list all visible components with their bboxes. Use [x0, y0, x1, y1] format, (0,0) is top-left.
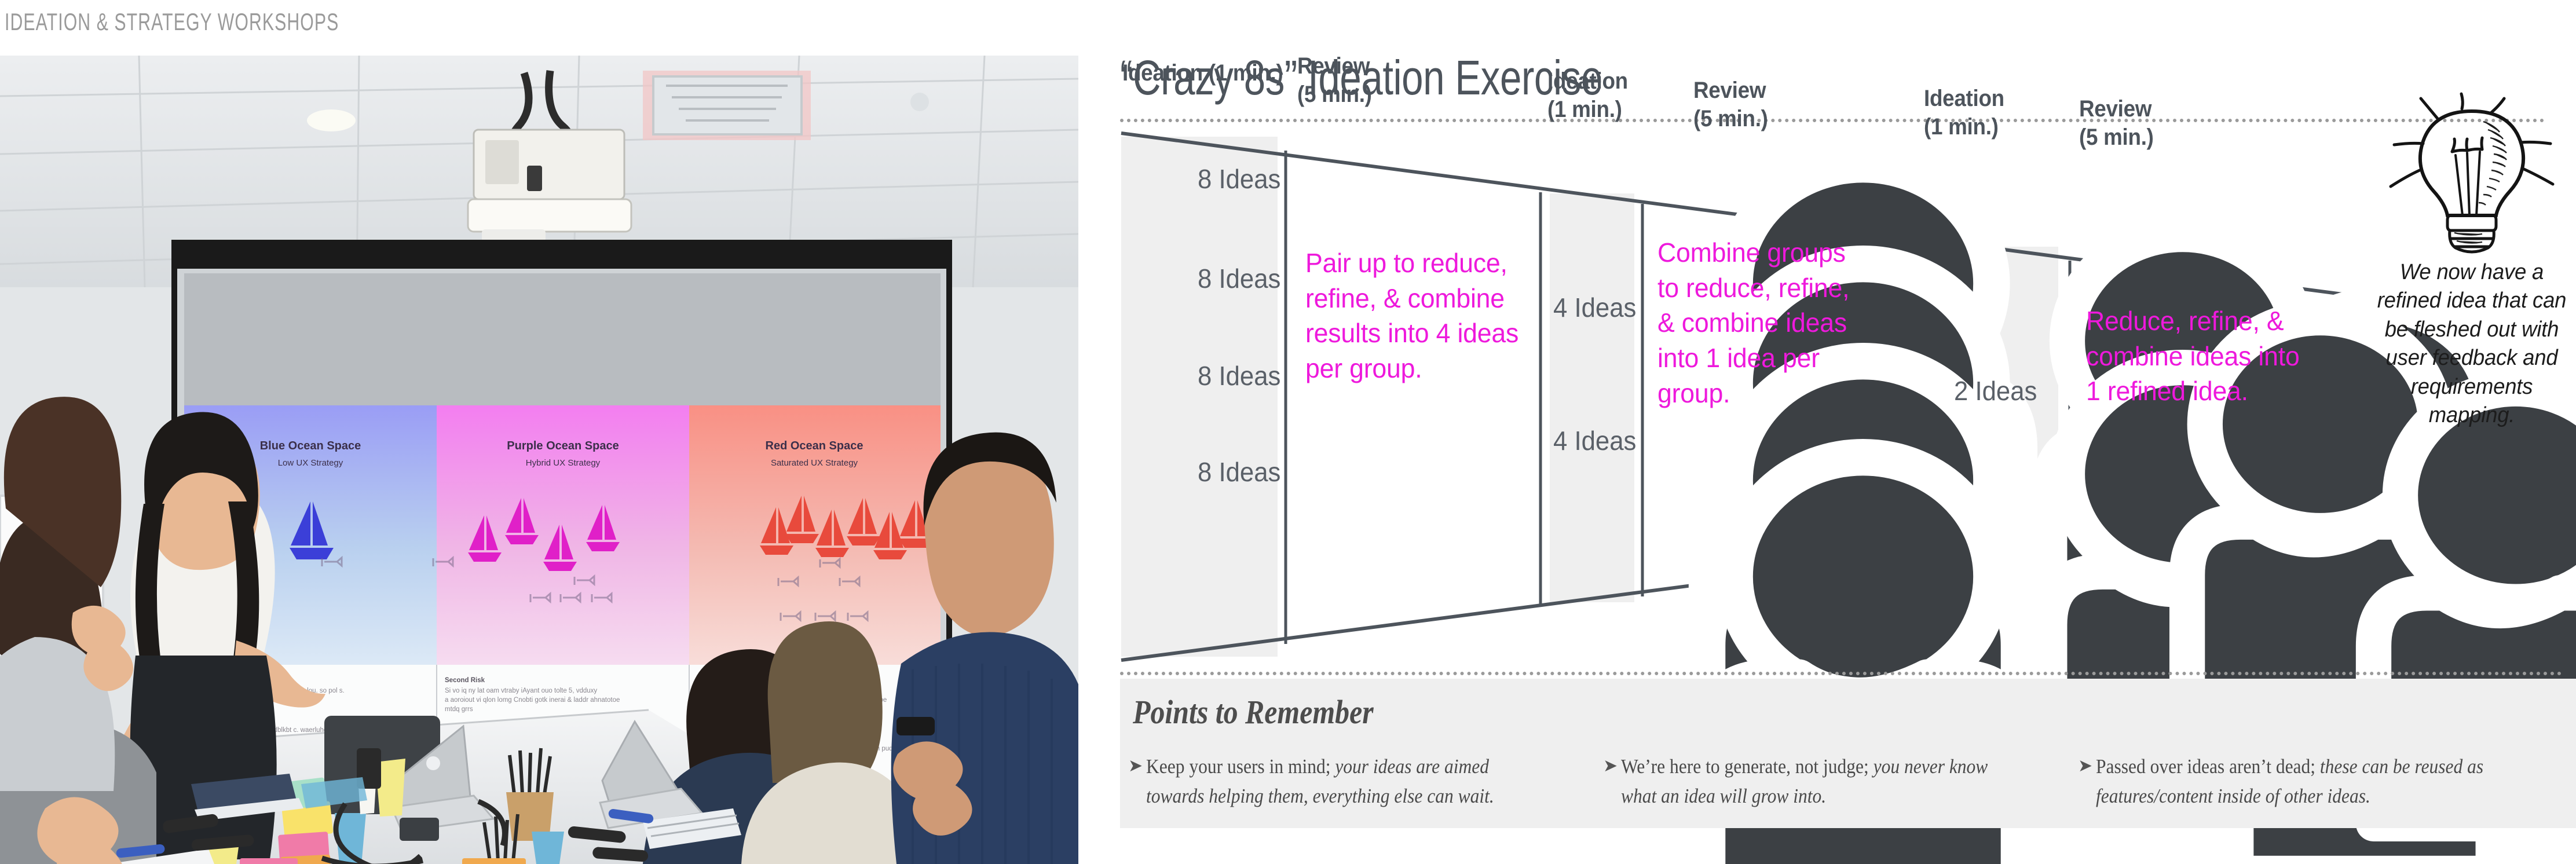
footer-bullet-list: ➤ Keep your users in mind; your ideas ar…: [1128, 752, 2570, 811]
svg-text:Hybrid UX Strategy: Hybrid UX Strategy: [526, 458, 601, 468]
stage-note-review-2: Combine groups to reduce, refine, & comb…: [1657, 235, 1872, 411]
bullet-text: Keep your users in mind; your ideas are …: [1146, 752, 1539, 811]
svg-text:Si vo iq ny lat oam vtraby iA: Si vo iq ny lat oam vtraby iAyant ouo to…: [445, 687, 597, 694]
workshop-photo: Blue Ocean Space Low UX Strategy Purple …: [0, 56, 1078, 864]
bullet-lead: Keep your users in mind;: [1146, 755, 1335, 778]
bullet-lead: Passed over ideas aren’t dead;: [2096, 755, 2320, 778]
points-to-remember-panel: Points to Remember ➤ Keep your users in …: [1120, 679, 2576, 828]
stage-header-review-3: Review (5 min.): [2079, 95, 2154, 152]
ideas-label: 4 Ideas: [1553, 425, 1636, 456]
divider-top: [1120, 119, 2545, 122]
svg-text:a aoroiout vi qlon lomg Cnobti: a aoroiout vi qlon lomg Cnobti gotk iner…: [445, 697, 620, 704]
bullet-text: We’re here to generate, not judge; you n…: [1621, 752, 2014, 811]
svg-text:Blue Ocean Space: Blue Ocean Space: [260, 440, 361, 452]
arrow-bullet-icon: ➤: [1603, 752, 1618, 811]
stage-note-review-3: Reduce, refine, & combine ideas into 1 r…: [2086, 303, 2311, 409]
ideas-label: 8 Ideas: [1198, 263, 1280, 294]
svg-text:Saturated UX Strategy: Saturated UX Strategy: [771, 458, 858, 468]
svg-text:Red Ocean Space: Red Ocean Space: [766, 440, 863, 452]
svg-text:Second Risk: Second Risk: [445, 677, 485, 684]
stage-note-review-1: Pair up to reduce, refine, & combine res…: [1305, 246, 1519, 386]
ideas-label: 8 Ideas: [1198, 456, 1280, 488]
stage-header-ideation-1: Ideation (1 min.): [1122, 59, 1283, 87]
slide-root: IDEATION & STRATEGY WORKSHOPS: [0, 0, 2576, 864]
lightbulb-icon: [2385, 81, 2559, 255]
stage-header-review-1: Review (5 min.): [1297, 52, 1372, 109]
list-item: ➤ Keep your users in mind; your ideas ar…: [1128, 752, 1603, 811]
bullet-text: Passed over ideas aren’t dead; these can…: [2096, 752, 2489, 811]
divider-bottom: [1120, 672, 2562, 675]
ideas-label: 8 Ideas: [1198, 360, 1280, 391]
stage-header-review-2: Review (5 min.): [1693, 76, 1768, 133]
list-item: ➤ We’re here to generate, not judge; you…: [1603, 752, 2078, 811]
svg-text:Purple Ocean Space: Purple Ocean Space: [507, 440, 619, 452]
ideas-label: 2 Ideas: [1954, 375, 2037, 407]
arrow-bullet-icon: ➤: [1128, 752, 1143, 811]
photo-illustration: Blue Ocean Space Low UX Strategy Purple …: [0, 56, 1078, 864]
slide-kicker: IDEATION & STRATEGY WORKSHOPS: [5, 8, 339, 36]
ideas-label: 8 Ideas: [1198, 163, 1280, 195]
right-content-panel: “Crazy 8s” Ideation Exercise: [1120, 0, 2576, 864]
outcome-caption: We now have a refined idea that can be f…: [2372, 258, 2572, 430]
stage-header-ideation-3: Ideation (1 min.): [1924, 85, 2004, 141]
svg-text:Low UX Strategy: Low UX Strategy: [278, 458, 343, 468]
outcome-block: We now have a refined idea that can be f…: [2368, 81, 2576, 430]
svg-text:mtdq grrs: mtdq grrs: [445, 706, 473, 713]
ideas-label: 4 Ideas: [1553, 292, 1636, 323]
arrow-bullet-icon: ➤: [2078, 752, 2092, 811]
bullet-lead: We’re here to generate, not judge;: [1621, 755, 1874, 778]
crazy8s-funnel-diagram: Ideation (1 min.) Review (5 min.) Ideati…: [1120, 123, 2576, 664]
footer-title: Points to Remember: [1133, 693, 1374, 731]
stage-header-ideation-2: Ideation (1 min.): [1547, 67, 1628, 124]
list-item: ➤ Passed over ideas aren’t dead; these c…: [2078, 752, 2553, 811]
